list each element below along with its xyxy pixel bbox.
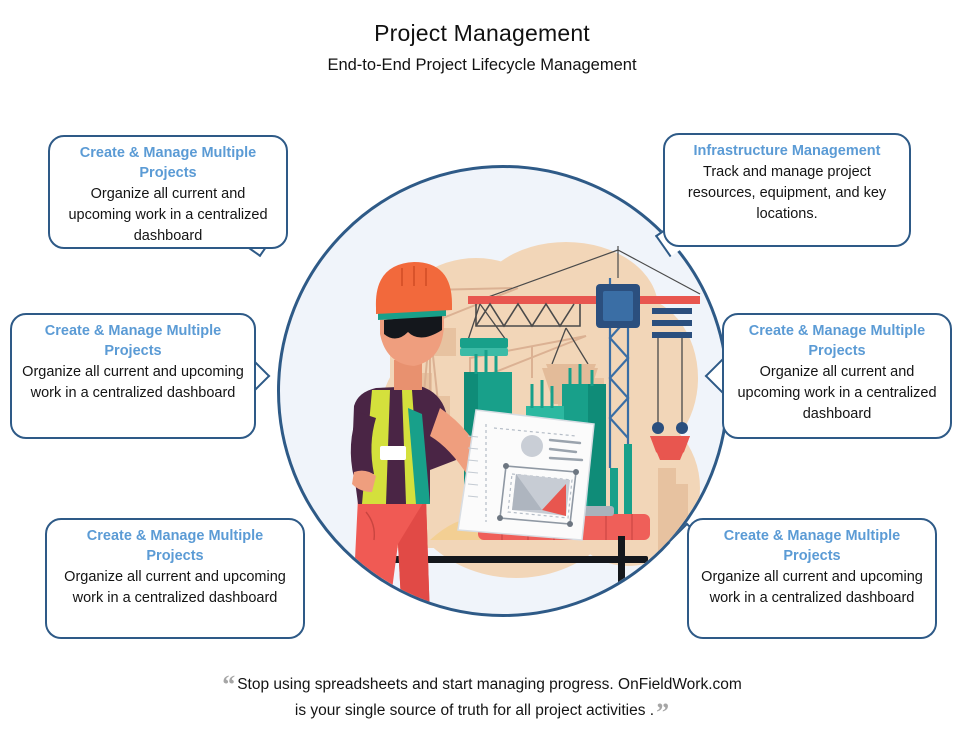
callout-card-bot-right[interactable]: Create & Manage Multiple Projects Organi… [687,518,937,639]
quote-text-line1: Stop using spreadsheets and start managi… [237,676,742,693]
callout-body: Organize all current and upcoming work i… [699,567,925,609]
quote-text-line2: is your single source of truth for all p… [295,702,654,719]
callout-body: Organize all current and upcoming work i… [60,184,276,247]
callout-title: Create & Manage Multiple Projects [60,143,276,183]
callout-title: Create & Manage Multiple Projects [57,526,293,566]
page-subtitle: End-to-End Project Lifecycle Management [0,53,964,77]
quote-line-1: “Stop using spreadsheets and start manag… [0,672,964,698]
callout-body: Organize all current and upcoming work i… [734,362,940,425]
callout-title: Infrastructure Management [675,141,899,161]
quote-open-icon: “ [222,670,235,699]
callout-title: Create & Manage Multiple Projects [734,321,940,361]
callout-card-mid-right[interactable]: Create & Manage Multiple Projects Organi… [722,313,952,439]
callout-title: Create & Manage Multiple Projects [22,321,244,361]
callout-title: Create & Manage Multiple Projects [699,526,925,566]
callout-card-bot-left[interactable]: Create & Manage Multiple Projects Organi… [45,518,305,639]
callout-body: Organize all current and upcoming work i… [22,362,244,404]
callout-card-top-left[interactable]: Create & Manage Multiple Projects Organi… [48,135,288,249]
page-title: Project Management [0,18,964,48]
callout-body: Track and manage project resources, equi… [675,162,899,225]
quote-line-2: is your single source of truth for all p… [0,698,964,724]
quote-close-icon: ” [656,698,669,727]
callout-card-top-right[interactable]: Infrastructure Management Track and mana… [663,133,911,247]
callout-body: Organize all current and upcoming work i… [57,567,293,609]
header: Project Management End-to-End Project Li… [0,18,964,77]
footer-quote: “Stop using spreadsheets and start manag… [0,672,964,724]
callout-card-mid-left[interactable]: Create & Manage Multiple Projects Organi… [10,313,256,439]
